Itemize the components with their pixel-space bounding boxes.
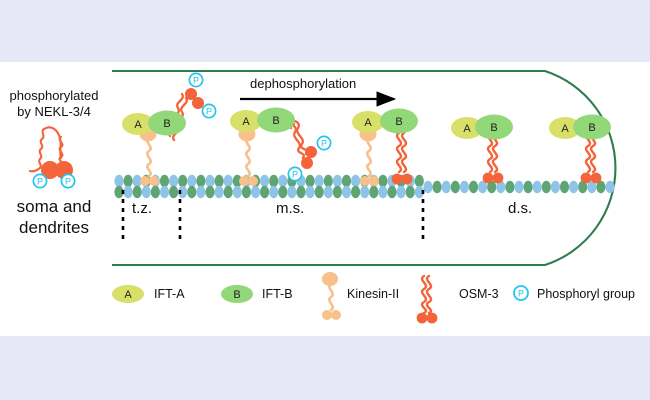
membrane-bead xyxy=(124,186,133,198)
membrane-bead xyxy=(514,181,523,193)
phosphorylated-by-label: phosphorylated by NEKL-3/4 xyxy=(2,88,106,120)
svg-text:A: A xyxy=(561,123,569,135)
membrane-bead xyxy=(187,186,196,198)
membrane-bead xyxy=(315,175,324,187)
ift-b-ellipse-icon: B xyxy=(475,115,513,140)
membrane-bead xyxy=(469,181,478,193)
ift-complex-1[interactable]: P P A B xyxy=(122,73,216,186)
phosphoryl-group-icon: P xyxy=(317,136,330,149)
membrane-bead xyxy=(605,181,614,193)
membrane-bead xyxy=(224,186,233,198)
membrane-bead xyxy=(142,186,151,198)
phosphoryl-group-icon: P xyxy=(33,174,46,187)
legend-icon-ift-a: A xyxy=(112,285,144,303)
membrane-bead xyxy=(124,175,133,187)
membrane-bead xyxy=(387,186,396,198)
membrane-bead xyxy=(287,186,296,198)
legend-icon-kinesin-ii xyxy=(322,272,341,320)
membrane-bead xyxy=(260,186,269,198)
membrane-bead xyxy=(551,181,560,193)
membrane-bead xyxy=(169,175,178,187)
membrane-bead xyxy=(378,175,387,187)
svg-text:B: B xyxy=(490,122,497,134)
membrane-bead xyxy=(360,186,369,198)
membrane-bead xyxy=(333,186,342,198)
svg-text:A: A xyxy=(364,117,372,129)
svg-text:P: P xyxy=(206,106,212,116)
legend-label-kinesin-ii: Kinesin-II xyxy=(347,287,399,301)
membrane-bead xyxy=(442,181,451,193)
legend-label-phosphoryl-group: Phosphoryl group xyxy=(537,287,635,301)
phosphoryl-group-icon: P xyxy=(202,104,215,117)
svg-text:B: B xyxy=(272,115,279,127)
membrane-bead xyxy=(306,175,315,187)
membrane-bead xyxy=(224,175,233,187)
membrane-bead xyxy=(569,181,578,193)
legend-label-ift-b: IFT-B xyxy=(262,287,293,301)
ift-b-ellipse-icon: B xyxy=(148,111,186,136)
osm3-phosphorylated-icon: P P xyxy=(288,121,330,181)
membrane-bead xyxy=(315,186,324,198)
membrane-bead xyxy=(296,186,305,198)
svg-text:P: P xyxy=(321,138,327,148)
membrane-bead xyxy=(406,186,415,198)
region-label-ms: m.s. xyxy=(276,200,304,217)
svg-text:A: A xyxy=(463,123,471,135)
phosphoryl-group-icon: P xyxy=(61,174,74,187)
membrane-bead xyxy=(169,186,178,198)
svg-text:B: B xyxy=(163,118,170,130)
region-label-ds: d.s. xyxy=(508,200,532,217)
ift-b-ellipse-icon: B xyxy=(380,109,418,134)
membrane-bead xyxy=(269,175,278,187)
membrane-bead xyxy=(423,181,432,193)
membrane-bead xyxy=(333,175,342,187)
ift-complex-5[interactable]: A B xyxy=(549,115,611,184)
svg-text:P: P xyxy=(65,176,71,186)
membrane-bead xyxy=(560,181,569,193)
membrane-bead xyxy=(433,181,442,193)
membrane-bead xyxy=(151,186,160,198)
membrane-bead xyxy=(542,181,551,193)
ift-a-ellipse-icon: A xyxy=(352,111,384,133)
membrane-bead xyxy=(451,181,460,193)
svg-text:A: A xyxy=(134,119,142,131)
membrane-bead xyxy=(342,175,351,187)
dephosphorylation-label: dephosphorylation xyxy=(250,76,356,91)
membrane-bead xyxy=(205,186,214,198)
svg-text:B: B xyxy=(395,116,402,128)
membrane-bead xyxy=(260,175,269,187)
membrane-bead xyxy=(196,175,205,187)
svg-text:B: B xyxy=(233,289,240,301)
membrane-bead xyxy=(196,186,205,198)
phosphoryl-group-icon: P xyxy=(189,73,202,86)
ift-complex-3[interactable]: A B xyxy=(352,109,418,187)
ift-b-ellipse-icon: B xyxy=(257,108,295,133)
membrane-bead xyxy=(378,186,387,198)
soma-dendrites-label: soma and dendrites xyxy=(0,196,108,238)
membrane-bead xyxy=(205,175,214,187)
svg-text:A: A xyxy=(242,116,250,128)
svg-text:P: P xyxy=(518,289,524,299)
membrane-bead xyxy=(351,175,360,187)
membrane-bead xyxy=(278,186,287,198)
legend-label-osm-3: OSM-3 xyxy=(459,287,499,301)
membrane-bead xyxy=(351,186,360,198)
membrane-bead xyxy=(460,181,469,193)
membrane-bead xyxy=(215,175,224,187)
svg-text:P: P xyxy=(292,169,298,179)
kinesin-ii-icon xyxy=(360,127,380,187)
membrane-bead xyxy=(160,186,169,198)
phosphoryl-group-icon: P xyxy=(288,167,301,180)
membrane-bead xyxy=(215,186,224,198)
kinesin-ii-icon xyxy=(239,127,259,187)
membrane-bead xyxy=(187,175,196,187)
membrane-bead xyxy=(114,175,123,187)
membrane-bead xyxy=(524,181,533,193)
membrane-bead xyxy=(278,175,287,187)
region-label-tz: t.z. xyxy=(132,200,152,217)
membrane-bead xyxy=(342,186,351,198)
membrane-bead xyxy=(160,175,169,187)
svg-text:P: P xyxy=(193,75,199,85)
membrane-bead xyxy=(397,186,406,198)
osm3-icon xyxy=(581,133,602,183)
membrane-bead xyxy=(533,181,542,193)
membrane-bead xyxy=(505,181,514,193)
legend-label-ift-a: IFT-A xyxy=(154,287,185,301)
ift-b-ellipse-icon: B xyxy=(573,115,611,140)
membrane-bead xyxy=(324,186,333,198)
membrane-bead xyxy=(269,186,278,198)
membrane-bead xyxy=(415,175,424,187)
membrane-bead xyxy=(251,186,260,198)
membrane-bead xyxy=(306,186,315,198)
legend-icon-ift-b: B xyxy=(221,285,253,303)
legend-icon-phosphoryl-group: P xyxy=(514,286,528,300)
ift-complex-2[interactable]: P P A B xyxy=(230,108,331,187)
membrane-bead xyxy=(233,186,242,198)
svg-text:B: B xyxy=(588,122,595,134)
membrane-bead xyxy=(133,186,142,198)
ift-complex-4[interactable]: A B xyxy=(451,115,513,184)
membrane-bead xyxy=(369,186,378,198)
membrane-bead xyxy=(324,175,333,187)
osm3-icon xyxy=(483,133,504,183)
svg-text:A: A xyxy=(124,289,132,301)
membrane-bead xyxy=(242,186,251,198)
legend-icon-osm-3 xyxy=(417,276,438,323)
figure-canvas: P P xyxy=(0,0,650,400)
osm3-autoinhibited-icon: P P xyxy=(30,127,75,187)
kinesin-ii-icon xyxy=(140,127,160,187)
svg-text:P: P xyxy=(37,176,43,186)
membrane-bead xyxy=(178,175,187,187)
